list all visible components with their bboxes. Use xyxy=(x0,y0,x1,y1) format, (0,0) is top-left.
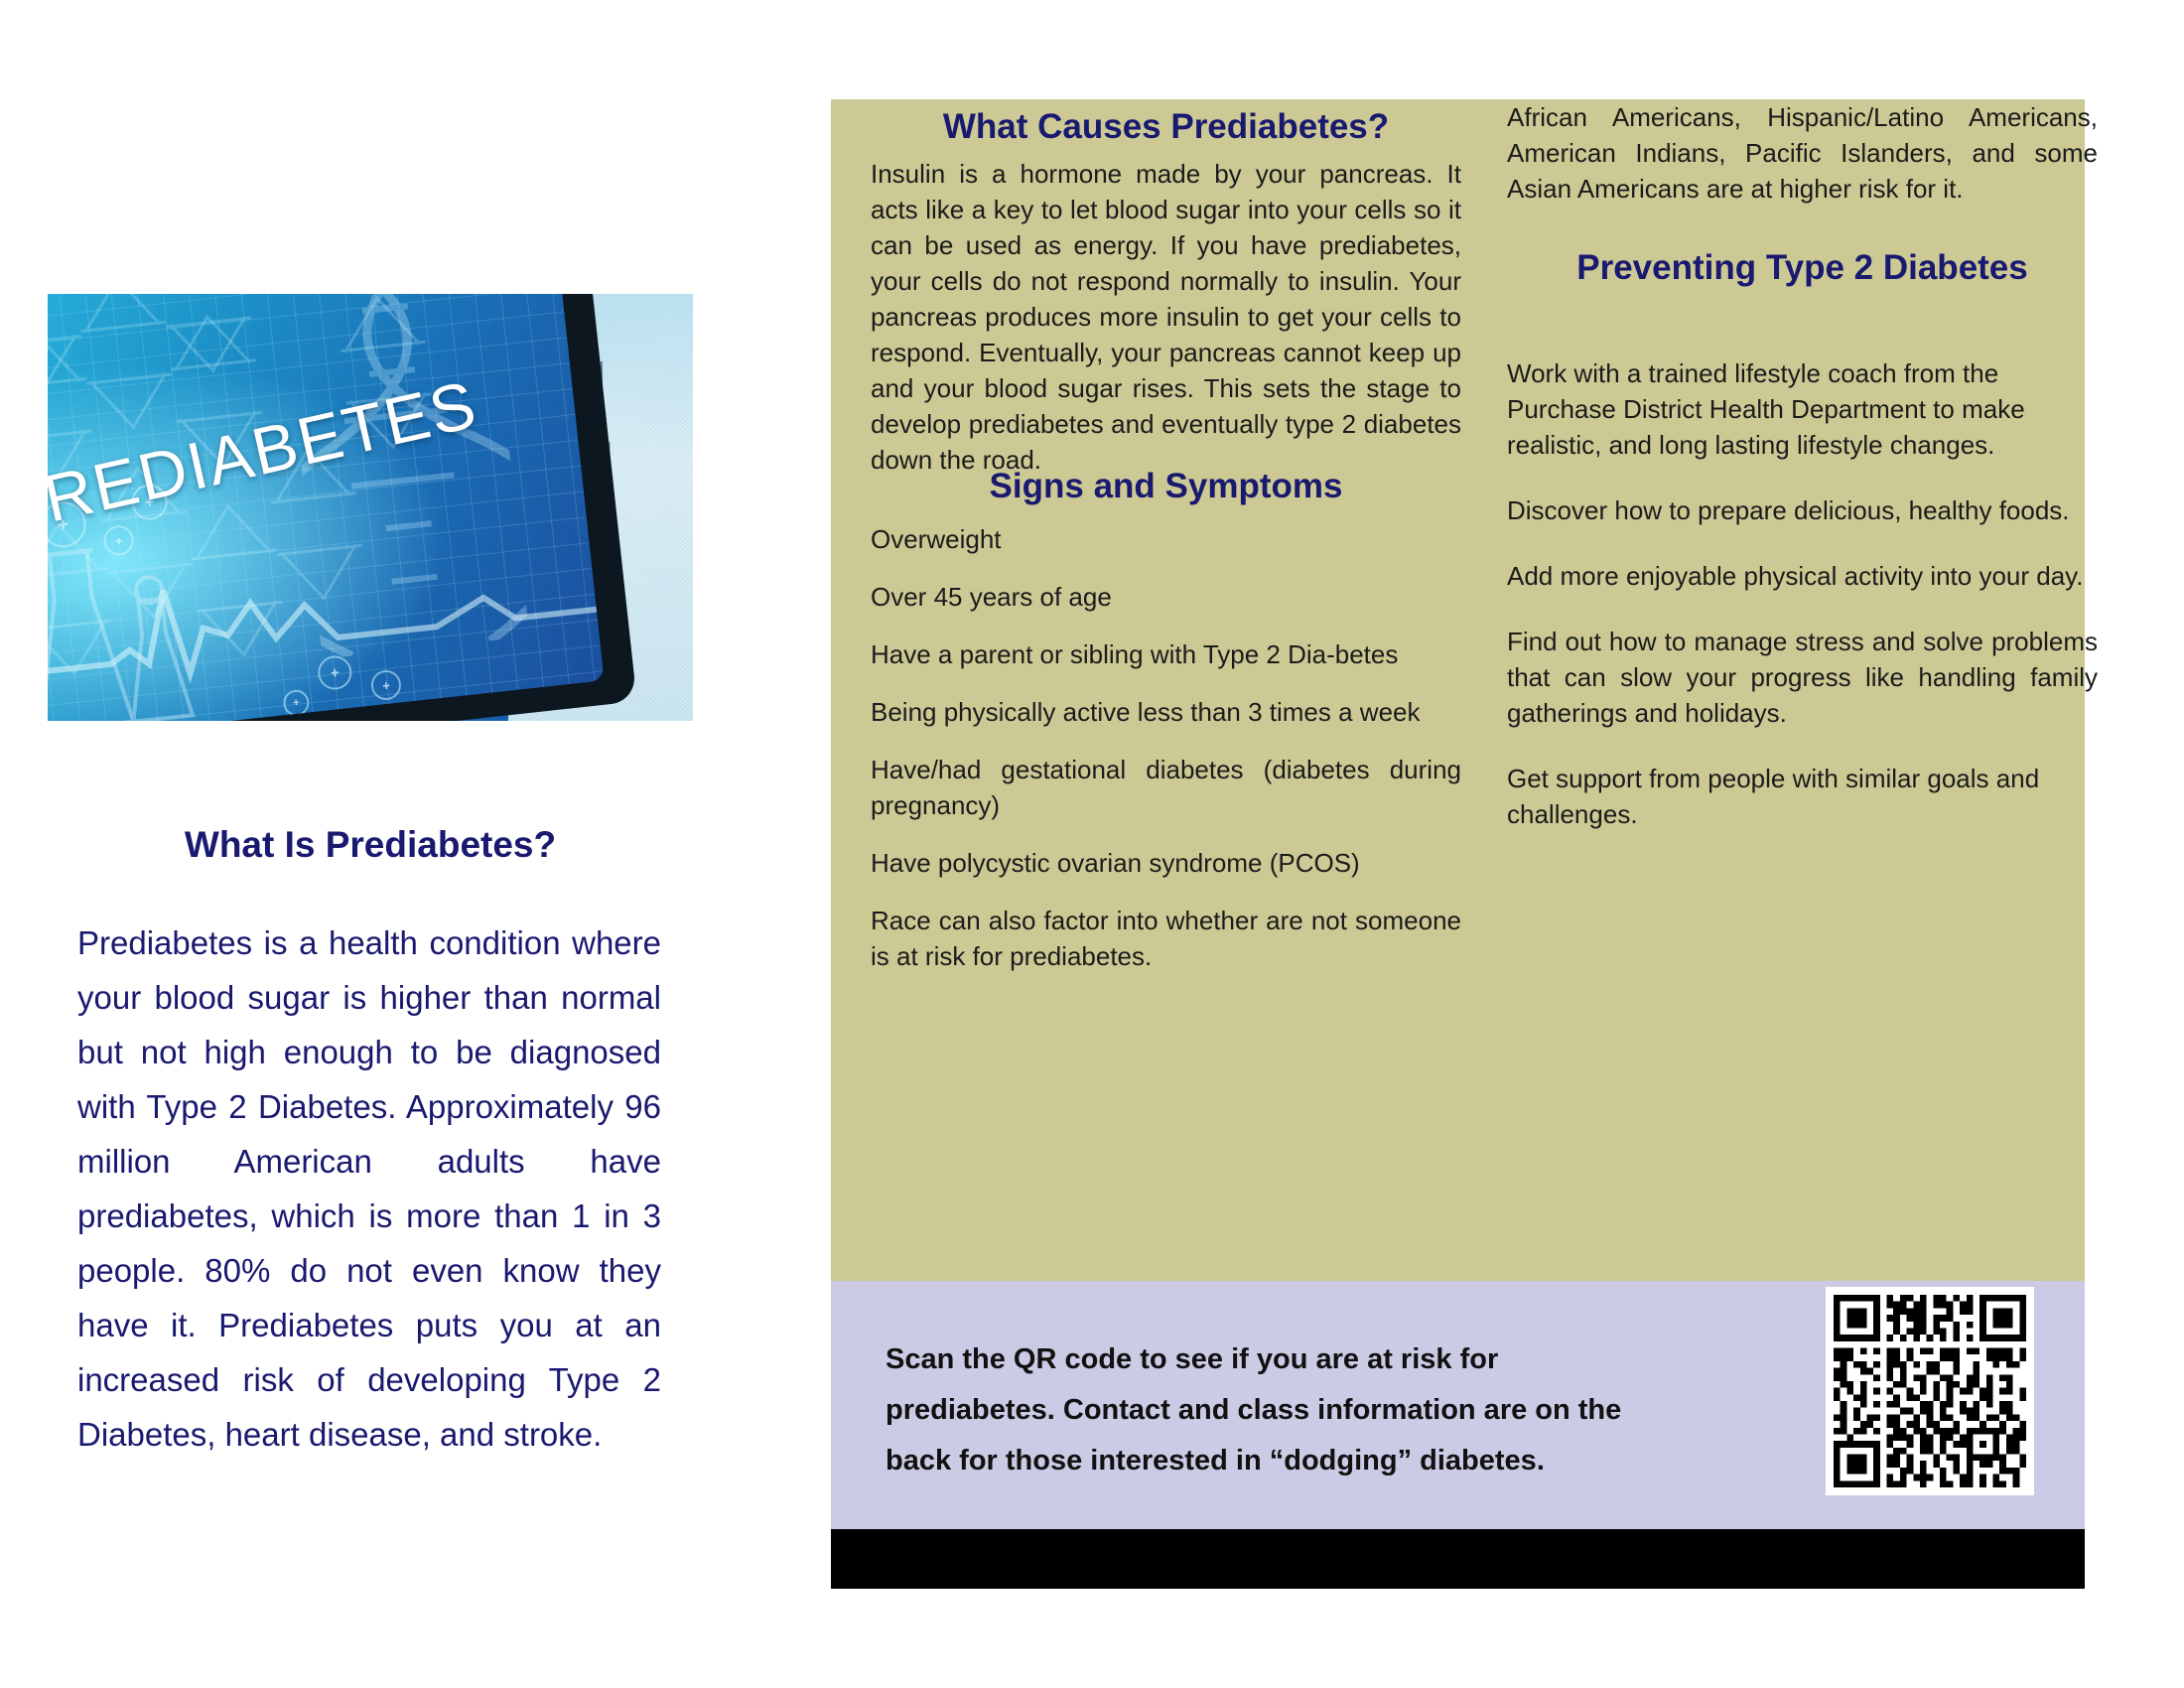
intro-paragraph: Prediabetes is a health condition where … xyxy=(77,915,661,1462)
list-item: Discover how to prepare delicious, healt… xyxy=(1507,492,2098,528)
list-item: Overweight xyxy=(871,521,1461,557)
causes-paragraph: Insulin is a hormone made by your pancre… xyxy=(871,156,1461,478)
olive-content-area: What Causes Prediabetes? Insulin is a ho… xyxy=(831,99,2085,1281)
flask-icon xyxy=(48,525,214,721)
causes-heading: What Causes Prediabetes? xyxy=(871,107,1461,147)
list-item: Work with a trained lifestyle coach from… xyxy=(1507,355,2098,463)
list-item: Have/had gestational diabetes (diabetes … xyxy=(871,752,1461,823)
signs-list: Overweight Over 45 years of age Have a p… xyxy=(871,521,1461,996)
brochure-inner-panel: What Causes Prediabetes? Insulin is a ho… xyxy=(831,99,2085,1589)
cover-image: + + + + + + PREDIABETES xyxy=(48,294,693,721)
tablet-screen: + + + + + + PREDIABETES xyxy=(48,294,605,721)
preventing-heading: Preventing Type 2 Diabetes xyxy=(1507,243,2098,293)
prevention-list: Work with a trained lifestyle coach from… xyxy=(1507,355,2098,862)
list-item: Add more enjoyable physical activity int… xyxy=(1507,558,2098,594)
list-item: Race can also factor into whether are no… xyxy=(871,903,1461,974)
signs-heading: Signs and Symptoms xyxy=(871,467,1461,506)
list-item: Find out how to manage stress and solve … xyxy=(1507,624,2098,731)
list-item: Have polycystic ovarian syndrome (PCOS) xyxy=(871,845,1461,881)
qr-code[interactable] xyxy=(1826,1287,2034,1495)
left-brochure-panel: + + + + + + PREDIABETES What Is Prediabe… xyxy=(0,0,794,1688)
page-title: What Is Prediabetes? xyxy=(48,824,693,866)
list-item: Have a parent or sibling with Type 2 Dia… xyxy=(871,636,1461,672)
list-item: Over 45 years of age xyxy=(871,579,1461,615)
qr-instruction-text: Scan the QR code to see if you are at ri… xyxy=(886,1335,1660,1486)
list-item: Get support from people with similar goa… xyxy=(1507,761,2098,832)
race-risk-paragraph: African Americans, Hispanic/Latino Ameri… xyxy=(1507,99,2098,207)
list-item: Being physically active less than 3 time… xyxy=(871,694,1461,730)
footer-black-bar xyxy=(831,1529,2085,1589)
